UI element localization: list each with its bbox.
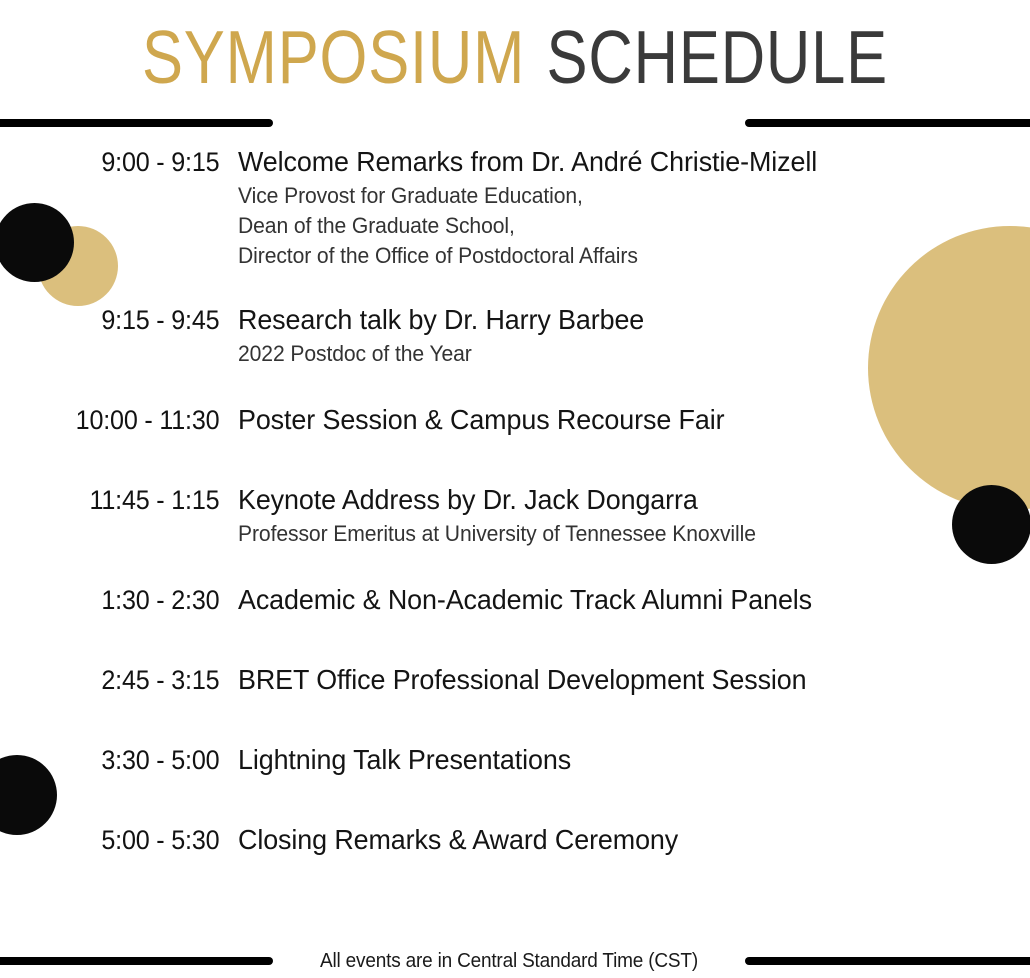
symposium-schedule-poster: SYMPOSIUMSCHEDULE 9:00 - 9:15 Welcome Re… [0, 0, 1030, 978]
entry-body: BRET Office Professional Development Ses… [238, 661, 1030, 699]
entry-body: Lightning Talk Presentations [238, 741, 1030, 779]
poster-footer: All events are in Central Standard Time … [0, 944, 1030, 978]
header-rule-right [745, 119, 1030, 127]
entry-time: 10:00 - 11:30 [17, 401, 238, 439]
entry-title: Academic & Non-Academic Track Alumni Pan… [238, 581, 998, 619]
entry-title: Lightning Talk Presentations [238, 741, 998, 779]
schedule-entry: 9:00 - 9:15 Welcome Remarks from Dr. And… [0, 143, 1030, 271]
entry-time: 2:45 - 3:15 [17, 661, 238, 699]
schedule-entry: 1:30 - 2:30 Academic & Non-Academic Trac… [0, 581, 1030, 619]
schedule-entry: 2:45 - 3:15 BRET Office Professional Dev… [0, 661, 1030, 699]
schedule-list: 9:00 - 9:15 Welcome Remarks from Dr. And… [0, 143, 1030, 859]
page-title: SYMPOSIUMSCHEDULE [93, 0, 938, 100]
entry-body: Welcome Remarks from Dr. André Christie-… [238, 143, 1030, 271]
footer-rule-right [745, 957, 1030, 965]
entry-time: 9:15 - 9:45 [17, 301, 238, 339]
schedule-entry: 9:15 - 9:45 Research talk by Dr. Harry B… [0, 301, 1030, 369]
entry-body: Academic & Non-Academic Track Alumni Pan… [238, 581, 1030, 619]
entry-body: Research talk by Dr. Harry Barbee 2022 P… [238, 301, 1030, 369]
schedule-entry: 3:30 - 5:00 Lightning Talk Presentations [0, 741, 1030, 779]
entry-title: Closing Remarks & Award Ceremony [238, 821, 998, 859]
entry-time: 3:30 - 5:00 [17, 741, 238, 779]
entry-body: Closing Remarks & Award Ceremony [238, 821, 1030, 859]
entry-time: 1:30 - 2:30 [17, 581, 238, 619]
header-rule-left [0, 119, 273, 127]
entry-subtitle: Vice Provost for Graduate Education, [238, 181, 998, 211]
entry-time: 11:45 - 1:15 [17, 481, 238, 519]
schedule-entry: 11:45 - 1:15 Keynote Address by Dr. Jack… [0, 481, 1030, 549]
header-rule-row [0, 119, 1030, 128]
entry-time: 5:00 - 5:30 [17, 821, 238, 859]
footer-rule-left [0, 957, 273, 965]
entry-subtitle: Dean of the Graduate School, [238, 211, 998, 241]
entry-body: Poster Session & Campus Recourse Fair [238, 401, 1030, 439]
entry-title: Keynote Address by Dr. Jack Dongarra [238, 481, 998, 519]
entry-subtitle: Professor Emeritus at University of Tenn… [238, 519, 998, 549]
entry-subtitle: 2022 Postdoc of the Year [238, 339, 998, 369]
entry-title: Poster Session & Campus Recourse Fair [238, 401, 998, 439]
schedule-entry: 10:00 - 11:30 Poster Session & Campus Re… [0, 401, 1030, 439]
entry-title: BRET Office Professional Development Ses… [238, 661, 998, 699]
page-title-word-schedule: SCHEDULE [547, 15, 888, 99]
entry-body: Keynote Address by Dr. Jack Dongarra Pro… [238, 481, 1030, 549]
entry-subtitle: Director of the Office of Postdoctoral A… [238, 241, 998, 271]
entry-title: Research talk by Dr. Harry Barbee [238, 301, 998, 339]
page-title-word-symposium: SYMPOSIUM [142, 15, 525, 99]
schedule-entry: 5:00 - 5:30 Closing Remarks & Award Cere… [0, 821, 1030, 859]
footer-note: All events are in Central Standard Time … [285, 949, 733, 973]
entry-title: Welcome Remarks from Dr. André Christie-… [238, 143, 998, 181]
poster-header: SYMPOSIUMSCHEDULE [0, 0, 1030, 100]
entry-time: 9:00 - 9:15 [17, 143, 238, 181]
